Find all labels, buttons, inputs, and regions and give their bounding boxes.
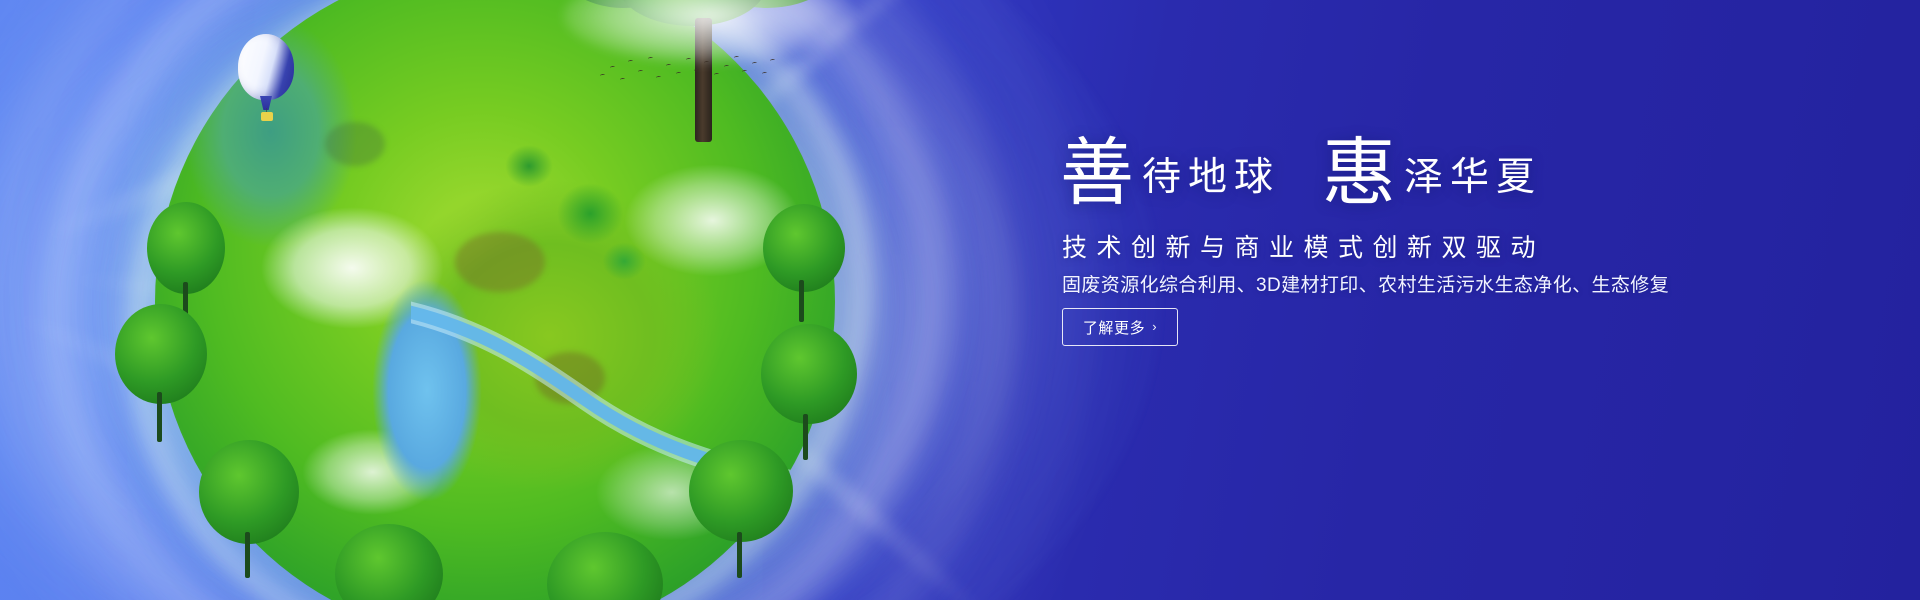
soil-patch xyxy=(325,122,385,166)
balloon-envelope xyxy=(238,34,294,100)
headline-char-shan: 善 xyxy=(1060,133,1134,215)
headline-text-daidiqiu: 待地球 xyxy=(1142,156,1280,199)
banner-subtitle: 技术创新与商业模式创新双驱动 xyxy=(1062,228,1545,264)
learn-more-label: 了解更多 xyxy=(1083,317,1145,338)
river-icon xyxy=(411,292,835,522)
headline-char-hui: 惠 xyxy=(1322,133,1396,215)
banner-description: 固废资源化综合利用、3D建材打印、农村生活污水生态净化、生态修复 xyxy=(1062,270,1669,297)
learn-more-button[interactable]: 了解更多 › xyxy=(1062,308,1178,346)
soil-patch xyxy=(455,232,545,292)
headline: 善待地球惠泽华夏 xyxy=(1060,137,1542,211)
hero-banner: 善待地球惠泽华夏 技术创新与商业模式创新双驱动 固废资源化综合利用、3D建材打印… xyxy=(0,0,1920,600)
bird-flock-icon xyxy=(598,52,778,94)
chevron-right-icon: › xyxy=(1152,320,1157,333)
banner-content: 善待地球惠泽华夏 技术创新与商业模式创新双驱动 固废资源化综合利用、3D建材打印… xyxy=(1058,0,1798,600)
soil-patch xyxy=(535,352,605,404)
balloon-basket xyxy=(261,112,273,121)
hot-air-balloon-icon xyxy=(238,34,296,132)
headline-text-zehuaxia: 泽华夏 xyxy=(1404,156,1542,199)
